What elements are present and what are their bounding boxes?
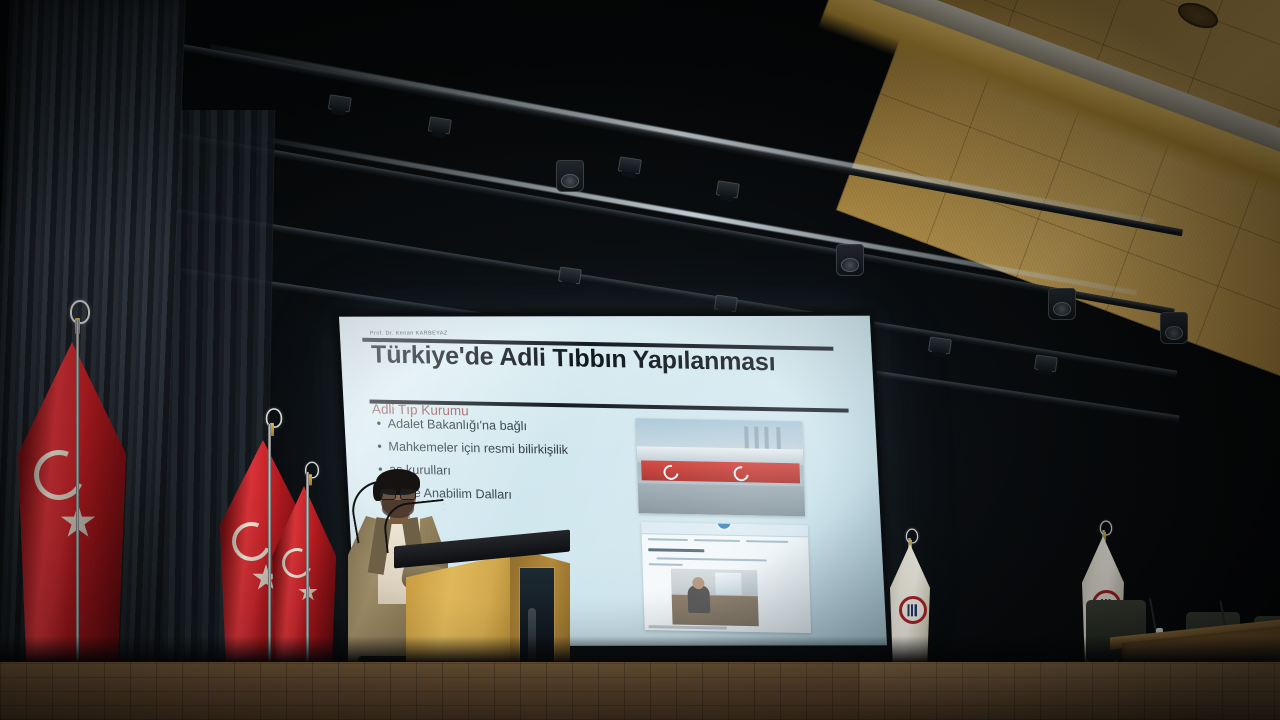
moving-head-light: [836, 244, 864, 276]
flag-finial-icon: [70, 300, 90, 324]
stage-light-fixture: [428, 116, 452, 134]
website-heading-line: [648, 548, 704, 552]
moving-head-light: [556, 160, 584, 192]
slide-image-website: [641, 522, 811, 633]
website-text-line: [746, 540, 788, 543]
stage-light-fixture: [716, 180, 740, 198]
slide-subtitle: Adli Tıp Kurumu: [372, 402, 469, 419]
stage-light-fixture: [328, 94, 352, 112]
seated-person: [687, 585, 710, 613]
stage-light-fixture: [714, 294, 738, 312]
slide-image-building: [636, 418, 805, 516]
floor-shadow: [0, 636, 1280, 662]
flag-finial-icon: [906, 529, 918, 544]
moving-head-light: [1160, 312, 1188, 344]
stage-light-fixture: [618, 156, 642, 174]
website-text-line: [656, 557, 766, 561]
person-head: [692, 577, 704, 589]
website-caption-line: [649, 625, 727, 629]
slide-bullet: Mahkemeler için resmi bilirkişilik: [377, 440, 678, 458]
website-text-line: [694, 539, 740, 542]
floor-light-reflection: [860, 662, 1280, 720]
website-embedded-photo: [671, 569, 759, 627]
stage-light-fixture: [1034, 354, 1058, 372]
website-text-line: [649, 563, 683, 566]
slide-bullet: Adalet Bakanlığı'na bağlı: [376, 417, 677, 435]
building-foreground: [638, 483, 805, 516]
stage-light-fixture: [558, 266, 582, 284]
conference-hall-scene: Prof. Dr. Kenan KARBEYAZ Türkiye'de Adli…: [0, 0, 1280, 720]
flag-finial-icon: [1100, 521, 1112, 536]
office-window: [715, 572, 742, 594]
moving-head-light: [1048, 288, 1076, 320]
slide-author-credit: Prof. Dr. Kenan KARBEYAZ: [370, 330, 448, 336]
university-emblem-icon: [899, 596, 927, 624]
website-text-line: [648, 538, 688, 541]
stage-light-fixture: [928, 336, 952, 354]
